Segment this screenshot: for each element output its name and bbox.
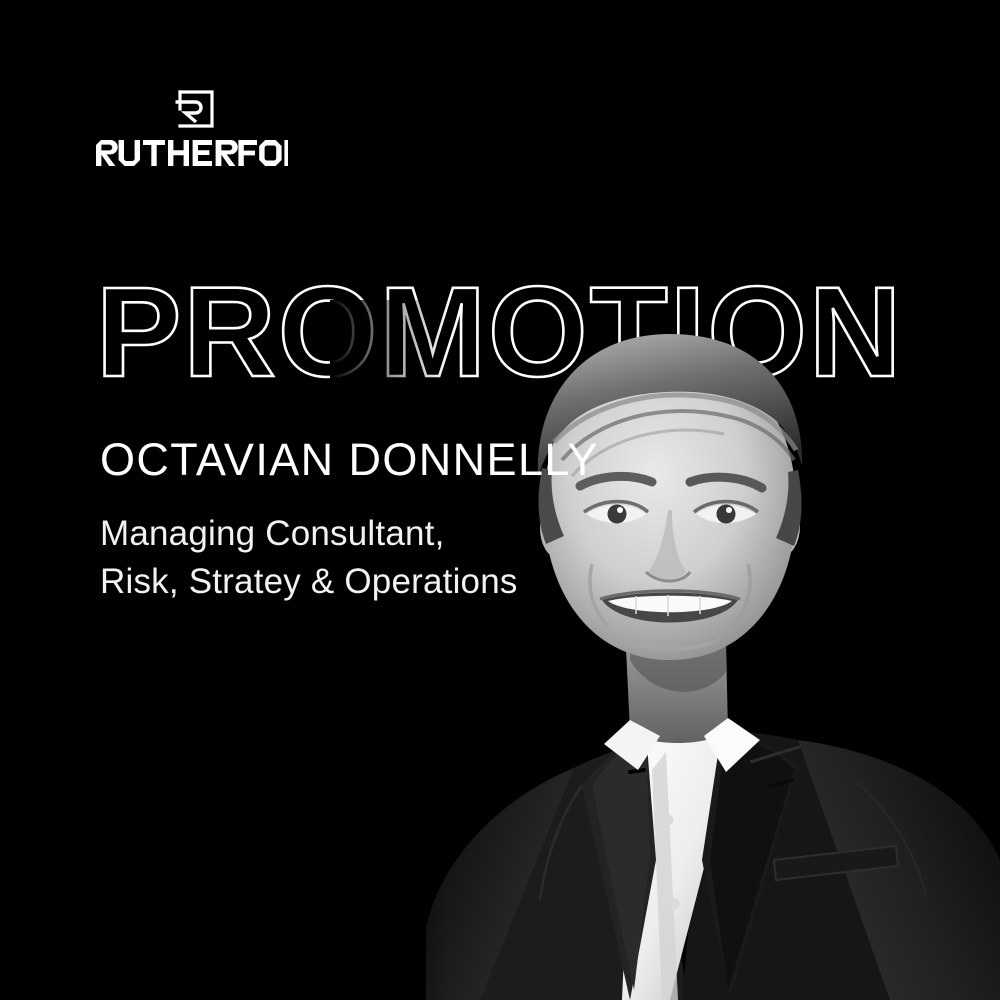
person-portrait: Black and white portrait of a smiling ma…: [330, 300, 1000, 1000]
person-role-line-2: Risk, Stratey & Operations: [100, 558, 518, 606]
rutherford-square-r-mark: [174, 88, 216, 130]
promotion-announcement-card: RUTHERFORD PROMOTION OCTAVIAN DONNELLY M…: [0, 0, 1000, 1000]
person-role-line-1: Managing Consultant,: [100, 510, 518, 558]
brand-wordmark: [96, 139, 288, 167]
brand-lockup: RUTHERFORD: [96, 88, 288, 167]
brand-wordmark-label: RUTHERFORD: [96, 167, 97, 168]
person-name: OCTAVIAN DONNELLY: [100, 437, 599, 482]
person-role: Managing Consultant, Risk, Stratey & Ope…: [100, 510, 518, 606]
